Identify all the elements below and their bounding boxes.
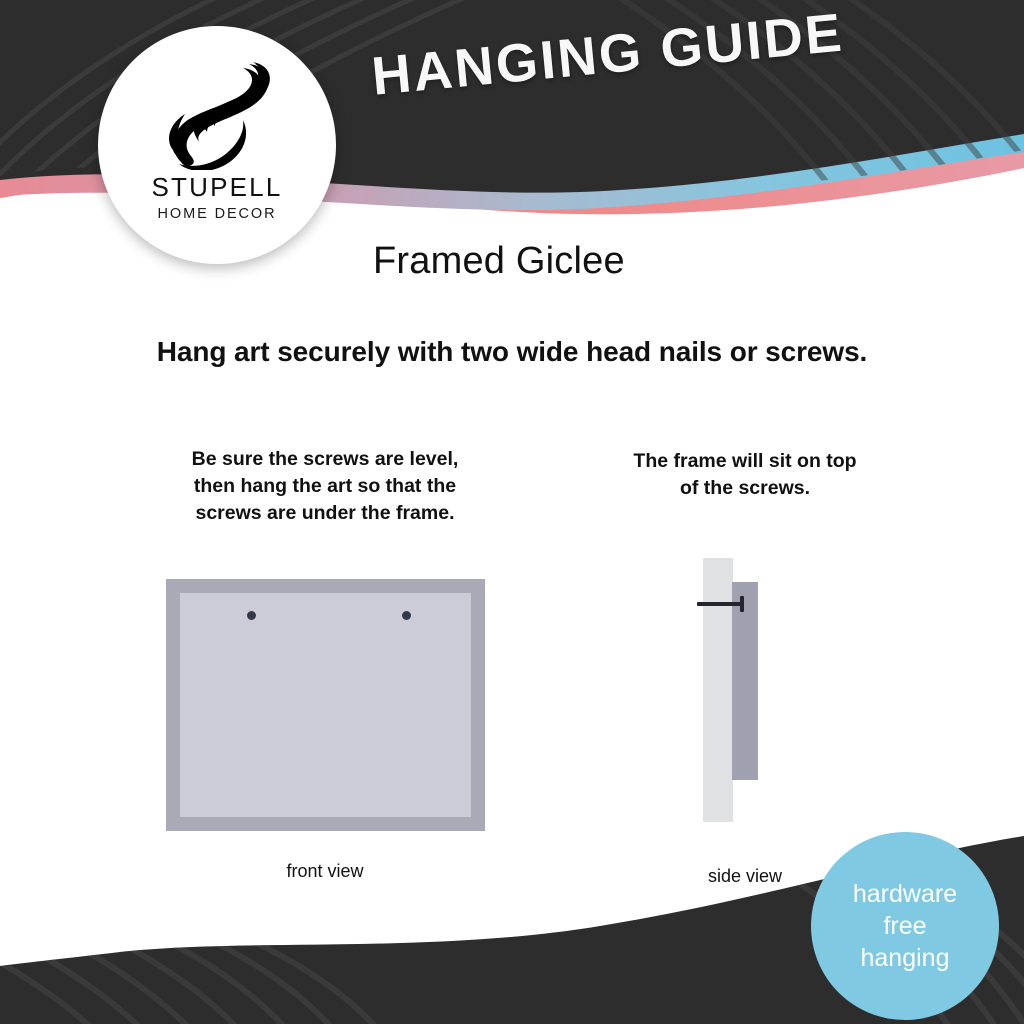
page-title: HANGING GUIDE	[369, 0, 893, 108]
front-caption-line-1: Be sure the screws are level,	[120, 446, 530, 473]
product-type-label: Framed Giclee	[373, 240, 625, 283]
side-caption-line-1: The frame will sit on top	[580, 448, 910, 475]
stupell-swoosh-logo-icon	[151, 52, 283, 170]
brand-logo-badge: STUPELL HOME DECOR	[98, 26, 336, 264]
front-caption-line-3: screws are under the frame.	[120, 500, 530, 527]
side-view-panel: The frame will sit on top of the screws.…	[580, 448, 910, 887]
screw-hole-right-icon	[402, 611, 411, 620]
main-instruction: Hang art securely with two wide head nai…	[0, 336, 1024, 368]
side-view-caption: The frame will sit on top of the screws.	[580, 448, 910, 502]
frame-cross-section	[732, 582, 758, 780]
hanging-guide-page: STUPELL HOME DECOR HANGING GUIDE Framed …	[0, 0, 1024, 1024]
badge-line-1: hardware	[853, 878, 957, 910]
nail-shaft-icon	[697, 602, 743, 606]
front-view-panel: Be sure the screws are level, then hang …	[120, 446, 530, 882]
badge-line-2: free	[883, 910, 926, 942]
front-view-frame-diagram	[166, 579, 485, 831]
front-view-caption: Be sure the screws are level, then hang …	[120, 446, 530, 527]
brand-name: STUPELL	[151, 172, 282, 203]
brand-tagline: HOME DECOR	[158, 206, 277, 222]
side-caption-line-2: of the screws.	[580, 475, 910, 502]
front-view-label: front view	[120, 861, 530, 882]
nail-head-icon	[740, 596, 744, 612]
front-caption-line-2: then hang the art so that the	[120, 473, 530, 500]
screw-hole-left-icon	[247, 611, 256, 620]
hardware-free-hanging-badge: hardware free hanging	[811, 832, 999, 1020]
wall-cross-section	[703, 558, 733, 822]
badge-line-3: hanging	[861, 942, 950, 974]
side-view-frame-diagram	[685, 558, 805, 836]
frame-mat-area	[180, 593, 471, 817]
